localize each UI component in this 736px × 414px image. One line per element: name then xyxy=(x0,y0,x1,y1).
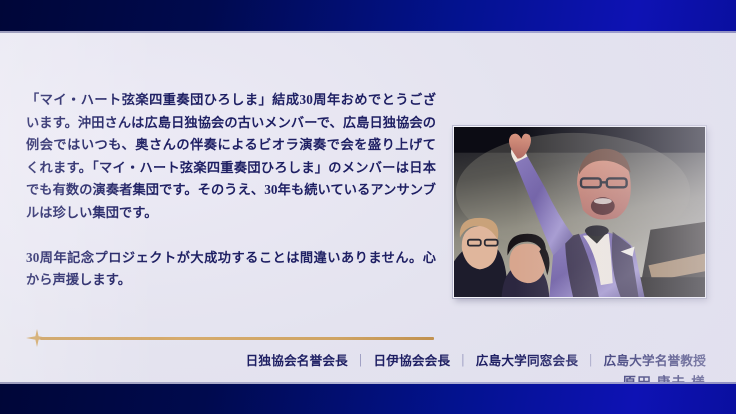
message-paragraph-2: 30周年記念プロジェクトが大成功することは間違いありません。心から声援します。 xyxy=(26,247,436,292)
slide-canvas: 「マイ・ハート弦楽四重奏団ひろしま」結成30周年おめでとうございます。沖田さんは… xyxy=(0,33,736,382)
signature-separator-2: ｜ xyxy=(454,354,473,368)
divider-rule xyxy=(40,337,434,340)
stage-photo xyxy=(453,126,706,298)
signature-separator-1: ｜ xyxy=(351,354,370,368)
signature-title-4: 広島大学名誉教授 xyxy=(604,354,706,368)
slide-root: 「マイ・ハート弦楽四重奏団ひろしま」結成30周年おめでとうございます。沖田さんは… xyxy=(0,0,736,414)
top-navy-band xyxy=(0,0,736,33)
signature-titles: 日独協会名誉会長 ｜ 日伊協会会長 ｜ 広島大学同窓会長 ｜ 広島大学名誉教授 xyxy=(86,352,706,371)
stage-photo-illustration xyxy=(454,127,705,297)
signature-title-2: 日伊協会会長 xyxy=(373,354,450,368)
message-body: 「マイ・ハート弦楽四重奏団ひろしま」結成30周年おめでとうございます。沖田さんは… xyxy=(26,89,436,292)
bottom-navy-band xyxy=(0,382,736,414)
message-paragraph-1: 「マイ・ハート弦楽四重奏団ひろしま」結成30周年おめでとうございます。沖田さんは… xyxy=(26,89,436,225)
signature-title-3: 広島大学同窓会長 xyxy=(476,354,578,368)
signature-separator-3: ｜ xyxy=(581,354,600,368)
gold-divider xyxy=(26,329,434,347)
signature-title-1: 日独協会名誉会長 xyxy=(246,354,348,368)
